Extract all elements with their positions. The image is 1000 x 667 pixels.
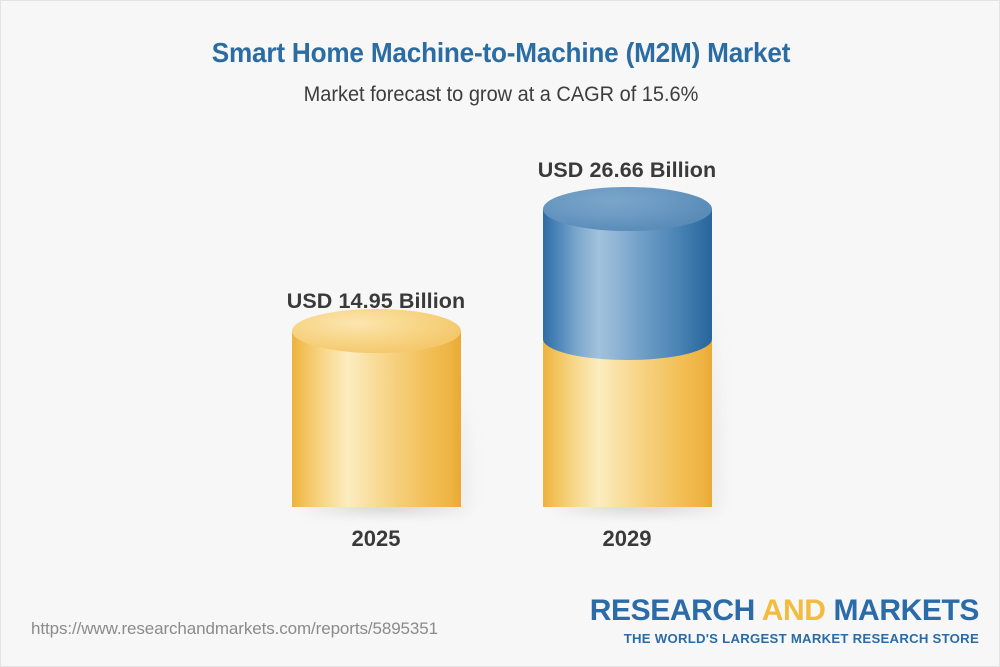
bar-cylinder-2029[interactable] [543, 209, 712, 507]
brand-tagline: THE WORLD'S LARGEST MARKET RESEARCH STOR… [590, 631, 979, 646]
brand-name-and: AND [762, 594, 826, 627]
chart-subtitle: Market forecast to grow at a CAGR of 15.… [26, 83, 976, 107]
bar-segment-2029-growth [543, 209, 712, 339]
bar-group-2029: USD 26.66 Billion 2029 [497, 131, 757, 571]
source-url[interactable]: https://www.researchandmarkets.com/repor… [31, 619, 438, 639]
brand-name-part2: MARKETS [826, 594, 979, 627]
category-label-2029: 2029 [497, 526, 757, 552]
bar-segment-top-ellipse [292, 309, 461, 353]
bar-value-label-2029: USD 26.66 Billion [497, 158, 757, 183]
bar-segment-2025-base [292, 331, 461, 507]
bar-segment-top-ellipse [543, 187, 712, 231]
bar-group-2025: USD 14.95 Billion 2025 [246, 131, 506, 571]
bar-segment-body [292, 331, 461, 507]
chart-plot-area: USD 14.95 Billion 2025 USD 26.66 Billion [1, 131, 1000, 571]
brand-name: RESEARCH AND MARKETS [590, 596, 979, 626]
infographic-canvas: Smart Home Machine-to-Machine (M2M) Mark… [0, 0, 1000, 667]
chart-footer: https://www.researchandmarkets.com/repor… [1, 574, 1000, 666]
bar-cylinder-2025[interactable] [292, 331, 461, 507]
brand-logo[interactable]: RESEARCH AND MARKETS THE WORLD'S LARGEST… [590, 596, 979, 646]
bar-segment-bottom-ellipse [543, 318, 712, 360]
chart-header: Smart Home Machine-to-Machine (M2M) Mark… [1, 1, 1000, 107]
page-title: Smart Home Machine-to-Machine (M2M) Mark… [26, 37, 976, 69]
category-label-2025: 2025 [246, 526, 506, 552]
brand-name-part1: RESEARCH [590, 594, 762, 627]
